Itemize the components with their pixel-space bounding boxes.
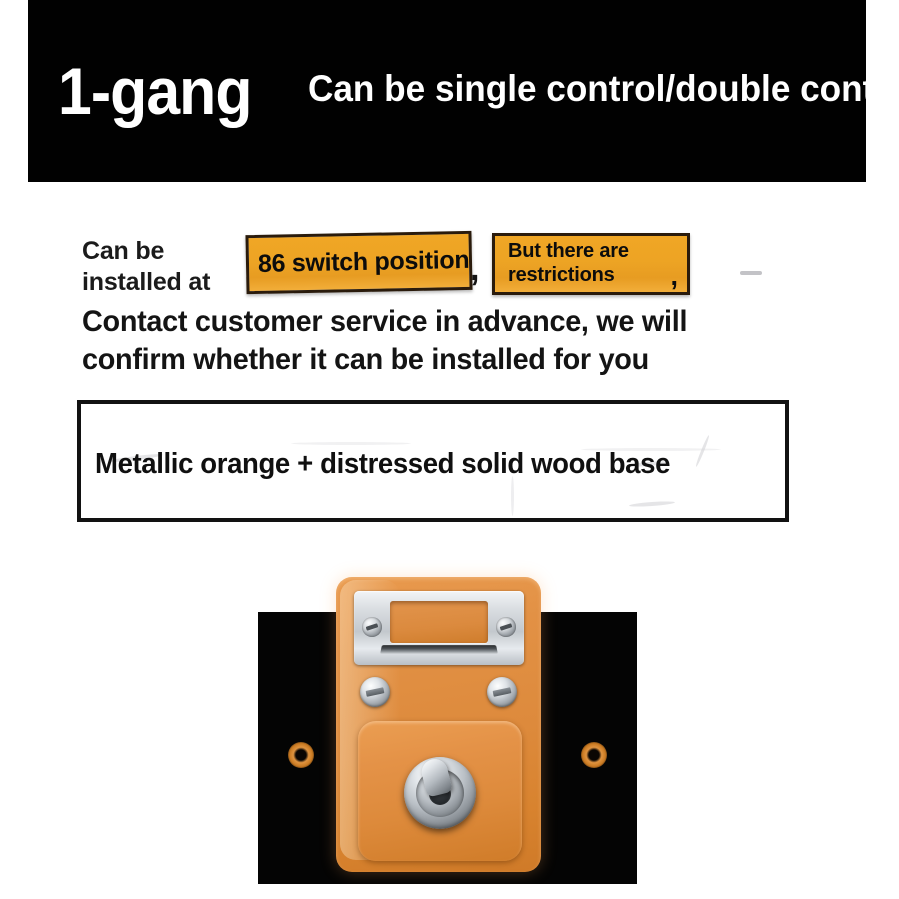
chrome-window-opening — [390, 601, 488, 643]
install-at-label: Can be installed at — [82, 236, 210, 299]
hero-description: Can be single control/double control — [308, 66, 899, 111]
smudge-artifact — [511, 476, 514, 516]
finish-description-label: Metallic orange + distressed solid wood … — [95, 448, 670, 481]
smudge-artifact — [291, 442, 411, 445]
finish-description-box: Metallic orange + distressed solid wood … — [77, 400, 789, 522]
chrome-screw-right-icon — [496, 617, 516, 637]
smudge-artifact — [629, 500, 675, 507]
product-photo — [258, 612, 637, 884]
tag-restrictions-comma: , — [670, 263, 678, 290]
body-screw-left-icon — [360, 677, 390, 707]
tag-86-switch-position-label: 86 switch position — [258, 246, 470, 279]
chrome-faceplate — [354, 591, 524, 665]
gang-label: 1-gang — [58, 58, 252, 124]
toggle-switch-icon[interactable] — [404, 757, 476, 829]
tag-restrictions: But there are restrictions , — [492, 233, 690, 295]
body-screw-right-icon — [487, 677, 517, 707]
chrome-lip — [380, 645, 498, 654]
smudge-artifact — [695, 435, 711, 468]
contact-customer-service-text: Contact customer service in advance, we … — [82, 303, 840, 380]
mount-hole-left-icon — [288, 742, 314, 768]
hero-banner: 1-gang Can be single control/double cont… — [28, 0, 866, 182]
chrome-screw-left-icon — [362, 617, 382, 637]
tag-86-switch-position: 86 switch position — [245, 231, 472, 294]
tag-restrictions-label: But there are restrictions — [508, 240, 629, 287]
switch-plate — [336, 577, 541, 872]
comma-separator: , — [470, 252, 479, 286]
dash-artifact — [740, 271, 762, 275]
mount-hole-right-icon — [581, 742, 607, 768]
rocker-pad — [358, 721, 522, 861]
